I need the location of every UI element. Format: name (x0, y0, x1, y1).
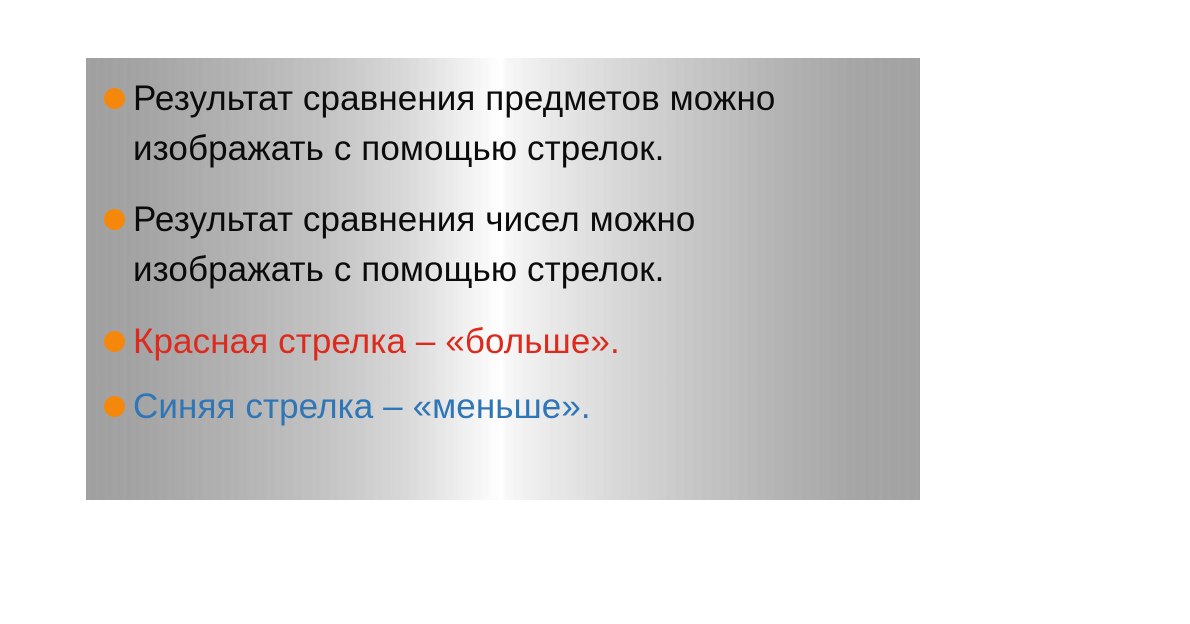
bullet-point-icon (104, 396, 125, 417)
list-item: Результат сравнения предметов можно изоб… (100, 74, 902, 173)
list-item-text: Результат сравнения чисел можно изобража… (133, 195, 893, 294)
list-item-text: Результат сравнения предметов можно изоб… (133, 74, 893, 173)
bullet-point-icon (104, 88, 125, 109)
list-item-text: Синяя стрелка – «меньше». (133, 382, 893, 432)
bullet-point-icon (104, 331, 125, 352)
bullet-list: Результат сравнения предметов можно изоб… (86, 58, 920, 500)
slide-content-panel: Результат сравнения предметов можно изоб… (86, 58, 920, 500)
list-item: Красная стрелка – «больше». (100, 317, 902, 367)
bullet-point-icon (104, 209, 125, 230)
list-item-text: Красная стрелка – «больше». (133, 317, 893, 367)
list-item: Результат сравнения чисел можно изобража… (100, 195, 902, 294)
list-item: Синяя стрелка – «меньше». (100, 382, 902, 432)
